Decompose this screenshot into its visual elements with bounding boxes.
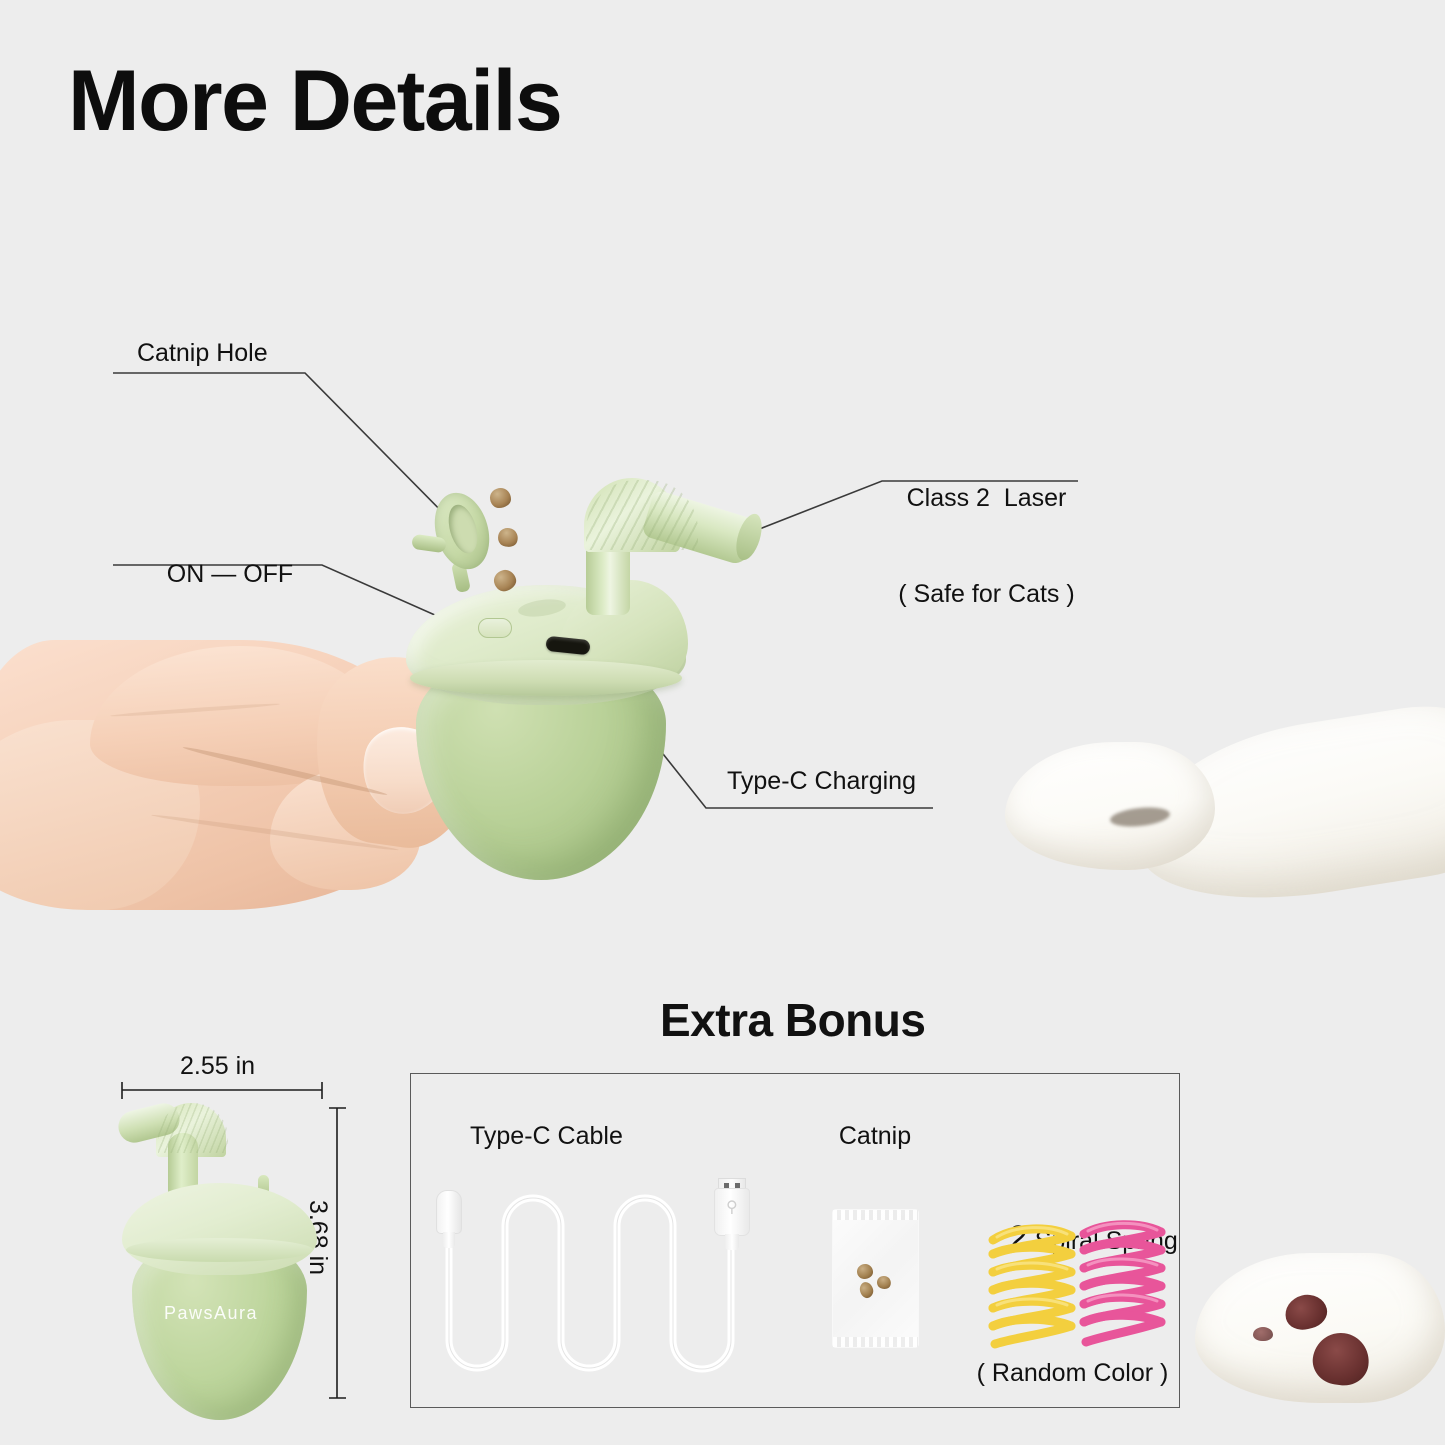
catnip-sachet [833, 1210, 918, 1347]
cat-foot [1005, 742, 1215, 870]
infographic-root: More Details Catnip Hole ON — OFF ( Mode… [0, 0, 1445, 1445]
bonus-item-cable-label: Type-C Cable [470, 1120, 720, 1153]
usb-trident-icon: ⚲ [726, 1200, 738, 1216]
catnip-seed [875, 1274, 893, 1292]
page-title: More Details [68, 58, 561, 144]
extra-bonus-title: Extra Bonus [660, 997, 925, 1043]
spiral-spring-yellow [985, 1222, 1080, 1352]
type-c-cable-illustration: ⚲ [428, 1190, 778, 1385]
brand-logo-text: PawsAura [164, 1303, 258, 1324]
cat-paw-upper [985, 690, 1445, 990]
callout-laser-line2: ( Safe for Cats ) [884, 578, 1089, 610]
catnip-pellet [490, 488, 511, 508]
spiral-spring-pink [1075, 1218, 1170, 1348]
product-device-main [398, 470, 758, 890]
cat-paw-lower [1185, 1245, 1445, 1445]
bonus-item-catnip-label: Catnip [800, 1120, 950, 1153]
callout-mode-switch-line1: ON — OFF [120, 558, 340, 590]
cat-toe-pad [1253, 1327, 1273, 1341]
mode-switch-button[interactable] [478, 618, 512, 638]
callout-catnip-hole-label: Catnip Hole [137, 337, 268, 369]
usb-c-strain-relief [443, 1232, 455, 1248]
spring-sublabel: ( Random Color ) [955, 1357, 1190, 1390]
dimension-diagram: 2.55 in 3.68 in PawsAura [100, 1050, 380, 1430]
catnip-pellet [495, 525, 520, 550]
usb-c-connector [436, 1190, 462, 1234]
usb-a-strain-relief [725, 1234, 739, 1250]
product-device-small: PawsAura [110, 1095, 330, 1425]
product-cap-lip [410, 660, 682, 696]
callout-laser-line1: Class 2 Laser [884, 482, 1089, 514]
small-product-cap-lip [126, 1238, 313, 1262]
cat-foot [1195, 1253, 1445, 1403]
catnip-seed [858, 1280, 875, 1299]
catnip-seed [857, 1264, 873, 1279]
